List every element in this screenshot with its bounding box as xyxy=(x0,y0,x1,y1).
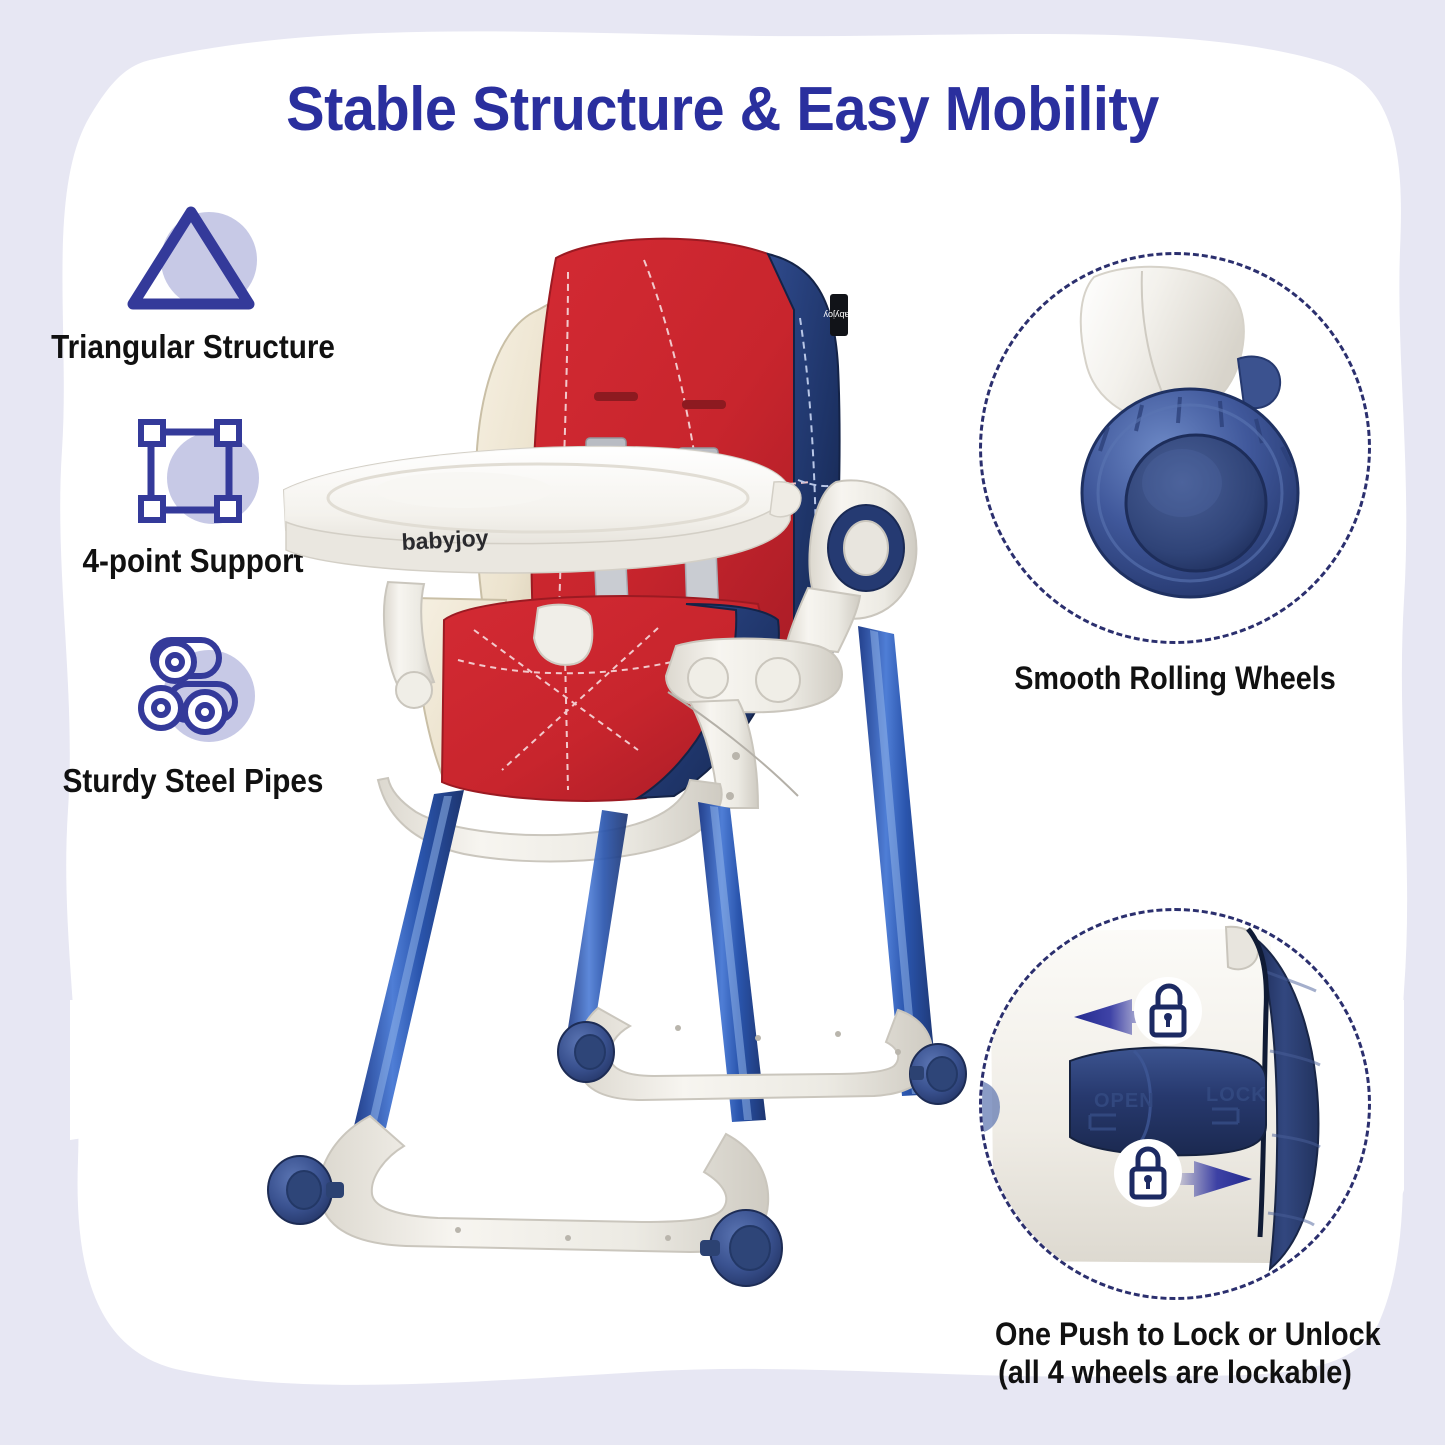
product-image-high-chair: babyjoy xyxy=(238,190,968,1320)
lock-badge xyxy=(1114,1139,1182,1207)
base-rails xyxy=(319,1008,932,1252)
tray-brand-logo: babyjoy xyxy=(401,524,489,555)
lever-open-label: OPEN xyxy=(1094,1090,1155,1112)
wheel-brake-lever-photo: OPEN LOCK xyxy=(979,908,1371,1300)
product-infographic: Stable Structure & Easy Mobility Triangu… xyxy=(0,0,1445,1445)
wheel-rear-right xyxy=(910,1044,966,1104)
lever-lock-label: LOCK xyxy=(1206,1084,1267,1106)
wheel-rear-left xyxy=(558,1022,614,1082)
callout-caption: Smooth Rolling Wheels xyxy=(995,660,1355,698)
callout-smooth-rolling-wheels: Smooth Rolling Wheels xyxy=(975,252,1375,698)
callout-caption: One Push to Lock or Unlock (all 4 wheels… xyxy=(995,1316,1355,1392)
svg-text:babyjoy: babyjoy xyxy=(823,310,855,320)
unlock-badge xyxy=(1134,977,1202,1045)
food-tray: babyjoy xyxy=(284,447,801,573)
callout-one-push-lock: OPEN LOCK xyxy=(975,908,1375,1392)
caster-wheel-photo xyxy=(979,252,1371,644)
page-title: Stable Structure & Easy Mobility xyxy=(51,74,1395,145)
